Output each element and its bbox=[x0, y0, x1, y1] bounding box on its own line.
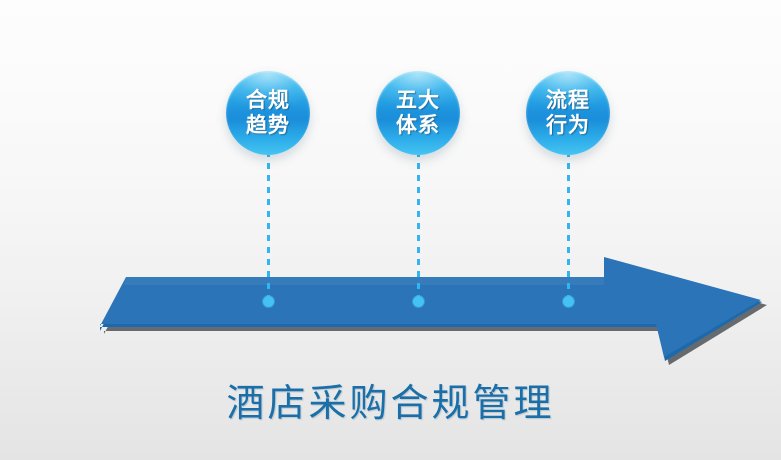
arrow-shadow bbox=[104, 262, 767, 365]
connector-dot-1 bbox=[263, 296, 274, 307]
page-title: 酒店采购合规管理 bbox=[0, 372, 781, 427]
connector-dot-3 bbox=[563, 296, 574, 307]
node-label-line2: 趋势 bbox=[246, 113, 290, 138]
connector-dot-2 bbox=[413, 296, 424, 307]
arrow-sheen bbox=[124, 277, 604, 285]
node-label-line1: 流程 bbox=[546, 88, 590, 113]
node-label-line1: 合规 bbox=[246, 88, 290, 113]
node-label-line2: 行为 bbox=[546, 113, 590, 138]
slide-canvas: 合规 趋势 五大 体系 流程 行为 酒店采购合规管理 bbox=[0, 0, 781, 460]
connector-line-2 bbox=[417, 151, 420, 299]
connector-line-1 bbox=[267, 151, 270, 299]
node-five-systems[interactable]: 五大 体系 bbox=[376, 71, 460, 155]
node-label-line1: 五大 bbox=[396, 88, 440, 113]
connector-line-3 bbox=[567, 151, 570, 299]
node-process-behavior[interactable]: 流程 行为 bbox=[526, 71, 610, 155]
arrow-face bbox=[100, 257, 761, 357]
node-label-line2: 体系 bbox=[396, 113, 440, 138]
arrow-bottom-edge bbox=[100, 259, 762, 361]
node-compliance-trend[interactable]: 合规 趋势 bbox=[226, 71, 310, 155]
